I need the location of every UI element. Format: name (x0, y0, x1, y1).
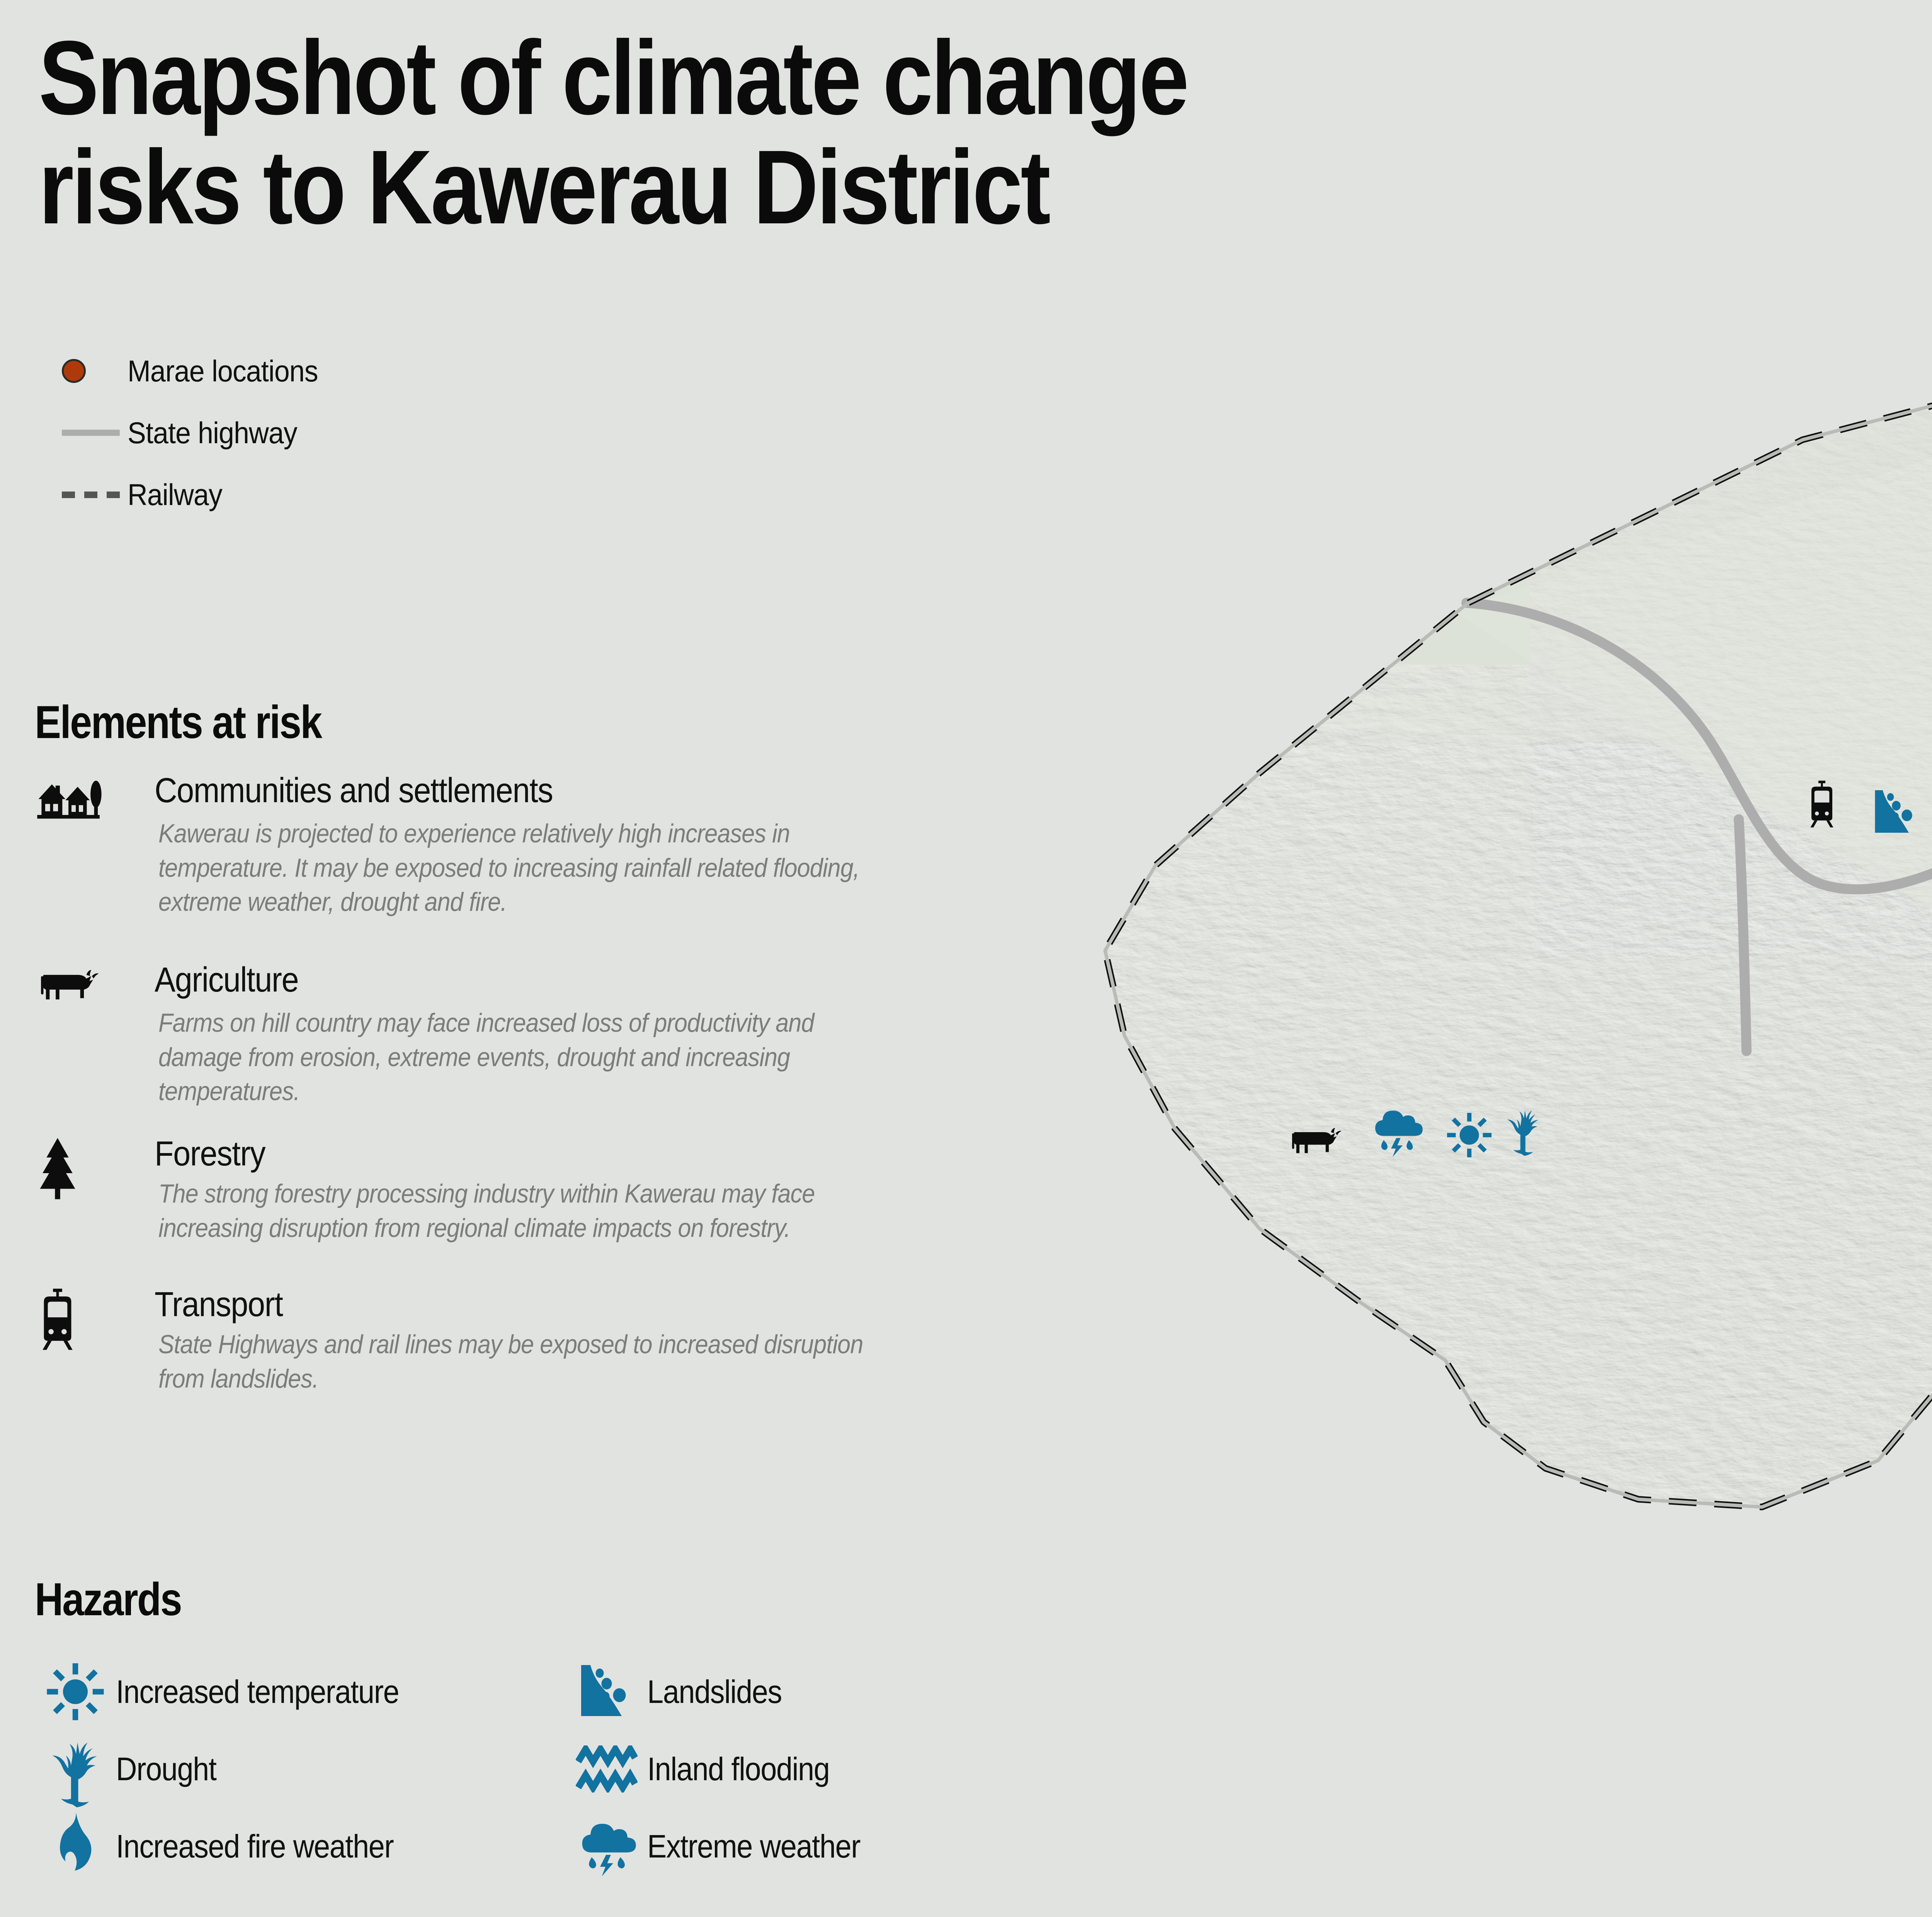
dead-tree-icon (35, 1732, 116, 1806)
map-legend: Marae locations State highway Railway (39, 340, 502, 526)
hazard-item-extreme-weather: Extreme weather (566, 1808, 1097, 1885)
elements-at-risk-section: Elements at risk Communities and settlem… (35, 696, 962, 1417)
hazard-item-drought: Drought (35, 1730, 566, 1808)
element-at-risk-communities: Communities and settlements Kawerau is p… (35, 772, 962, 934)
map-storm-cloud-icon (1368, 1103, 1426, 1158)
hazard-item-increased-temperature: Increased temperature (35, 1653, 566, 1730)
hazard-label: Increased fire weather (116, 1828, 393, 1865)
hazards-right-column: Landslides Inland flooding (566, 1653, 1097, 1885)
map-cow-icon (1287, 1121, 1345, 1157)
cow-icon (35, 961, 131, 1039)
page-title: Snapshot of climate change risks to Kawe… (39, 23, 1434, 242)
map-landslide-icon (1872, 788, 1920, 837)
district-map[interactable] (989, 317, 1932, 1546)
terrain-hillshade-ne (1530, 340, 1932, 958)
map-sun-icon (1445, 1111, 1493, 1159)
houses-icon (35, 772, 131, 849)
legend-item-marae: Marae locations (39, 340, 502, 402)
landslide-icon (566, 1655, 647, 1728)
map-dead-tree-icon (1503, 1101, 1544, 1157)
poster-root: Snapshot of climate change risks to Kawe… (0, 0, 1932, 1917)
legend-item-railway: Railway (39, 464, 502, 526)
element-description: Kawerau is projected to experience relat… (158, 816, 882, 919)
element-title: Agriculture (155, 961, 815, 999)
legend-label: State highway (128, 415, 297, 451)
state-highway-line-icon (39, 430, 128, 436)
map-train-icon (1804, 779, 1839, 828)
elements-at-risk-heading: Elements at risk (35, 696, 823, 749)
legend-label: Marae locations (128, 354, 318, 389)
hazards-section: Hazards (35, 1573, 1097, 1885)
hazard-label: Increased temperature (116, 1673, 399, 1711)
element-description: The strong forestry processing industry … (158, 1177, 882, 1245)
marae-dot-icon (39, 359, 128, 383)
hazard-item-inland-flooding: Inland flooding (566, 1730, 1097, 1808)
element-description: Farms on hill country may face increased… (158, 1006, 882, 1108)
hazards-left-column: Increased temperature Drought (35, 1653, 566, 1885)
hazard-item-increased-fire-weather: Increased fire weather (35, 1808, 566, 1885)
element-description: State Highways and rail lines may be exp… (158, 1327, 882, 1396)
hazard-label: Inland flooding (647, 1750, 830, 1788)
storm-cloud-icon (566, 1810, 647, 1883)
legend-label: Railway (128, 477, 222, 512)
hazard-label: Drought (116, 1750, 216, 1788)
hazard-label: Landslides (647, 1673, 782, 1711)
hazard-label: Extreme weather (647, 1828, 860, 1865)
element-at-risk-transport: Transport State Highways and rail lines … (35, 1286, 962, 1402)
hazard-item-landslides: Landslides (566, 1653, 1097, 1730)
pine-tree-icon (35, 1135, 131, 1213)
element-at-risk-forestry: Forestry The strong forestry processing … (35, 1135, 962, 1259)
flame-icon (35, 1810, 116, 1883)
element-title: Communities and settlements (155, 772, 815, 810)
element-title: Forestry (155, 1135, 815, 1173)
sun-icon (35, 1655, 116, 1728)
waves-icon (566, 1732, 647, 1806)
railway-line-icon (39, 492, 128, 498)
element-title: Transport (155, 1286, 815, 1323)
legend-item-state-highway: State highway (39, 402, 502, 464)
train-icon (35, 1286, 131, 1363)
hazards-heading: Hazards (35, 1573, 938, 1626)
element-at-risk-agriculture: Agriculture Farms on hill country may fa… (35, 961, 962, 1112)
